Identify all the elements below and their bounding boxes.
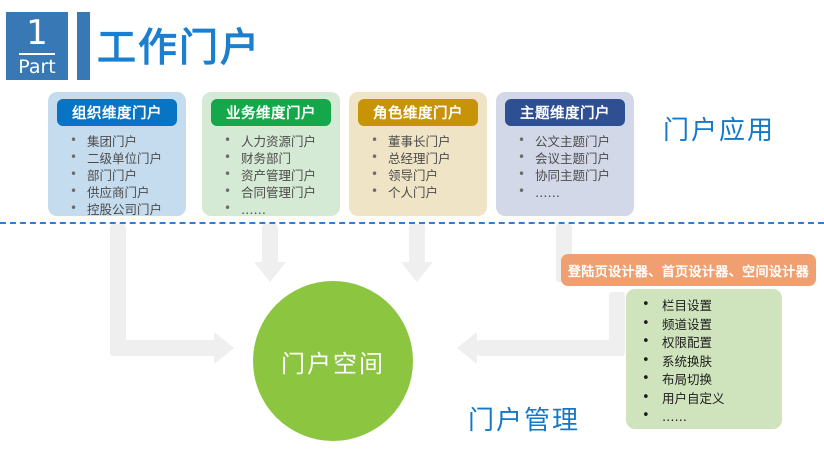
list-item: 用户自定义 [642,390,782,409]
title-accent-bar [77,12,90,80]
annotation-portal-application: 门户应用 [663,110,775,147]
management-options-list: 栏目设置 频道设置 权限配置 系统换肤 布局切换 用户自定义 …… [626,297,782,427]
card-title-organization: 组织维度门户 [57,99,177,126]
arrow-management-horizontal [477,340,625,356]
list-item: 二级单位门户 [70,150,186,167]
arrow-role-vertical [409,224,425,266]
list-item: 频道设置 [642,316,782,335]
management-options-panel[interactable]: 栏目设置 频道设置 权限配置 系统换肤 布局切换 用户自定义 …… [626,289,782,429]
part-divider-rule [19,53,55,55]
list-item: …… [224,201,340,218]
card-list-organization: 集团门户 二级单位门户 部门门户 供应商门户 控股公司门户 [48,133,186,218]
list-item: 系统换肤 [642,353,782,372]
card-topic-portal[interactable]: 主题维度门户 公文主题门户 会议主题门户 协同主题门户 …… [496,92,634,216]
arrow-head-down-icon [254,262,286,282]
card-organization-portal[interactable]: 组织维度门户 集团门户 二级单位门户 部门门户 供应商门户 控股公司门户 [48,92,186,216]
list-item: 供应商门户 [70,184,186,201]
list-item: 栏目设置 [642,297,782,316]
slide-canvas: 1 Part 工作门户 组织维度门户 集团门户 二级单位门户 部门门户 供应商门… [0,0,824,464]
list-item: 资产管理门户 [224,167,340,184]
list-item: 集团门户 [70,133,186,150]
list-item: 布局切换 [642,371,782,390]
card-title-role: 角色维度门户 [358,99,478,126]
part-word: Part [18,58,56,77]
arrow-business-vertical [262,224,278,266]
arrow-organization-vertical [110,224,126,354]
card-list-topic: 公文主题门户 会议主题门户 协同主题门户 …… [496,133,634,201]
arrow-head-left-icon [457,332,477,364]
list-item: 总经理门户 [371,150,487,167]
designer-banner[interactable]: 登陆页设计器、首页设计器、空间设计器 [561,254,816,286]
list-item: 权限配置 [642,334,782,353]
card-list-business: 人力资源门户 财务部门 资产管理门户 合同管理门户 …… [202,133,340,218]
list-item: …… [518,184,634,201]
list-item: 公文主题门户 [518,133,634,150]
part-number: 1 [26,16,48,51]
list-item: 控股公司门户 [70,201,186,218]
card-role-portal[interactable]: 角色维度门户 董事长门户 总经理门户 领导门户 个人门户 [349,92,487,216]
list-item: 部门门户 [70,167,186,184]
page-title: 工作门户 [97,17,261,73]
annotation-portal-management: 门户管理 [468,400,580,437]
part-badge: 1 Part [6,12,68,80]
arrow-head-down-icon [401,262,433,282]
card-title-business: 业务维度门户 [211,99,331,126]
card-title-topic: 主题维度门户 [505,99,625,126]
list-item: 董事长门户 [371,133,487,150]
card-business-portal[interactable]: 业务维度门户 人力资源门户 财务部门 资产管理门户 合同管理门户 …… [202,92,340,216]
list-item: 个人门户 [371,184,487,201]
portal-space-label: 门户空间 [281,344,385,379]
list-item: 合同管理门户 [224,184,340,201]
list-item: …… [642,408,782,427]
card-list-role: 董事长门户 总经理门户 领导门户 个人门户 [349,133,487,201]
list-item: 人力资源门户 [224,133,340,150]
list-item: 协同主题门户 [518,167,634,184]
list-item: 会议主题门户 [518,150,634,167]
arrow-head-right-icon [214,332,234,364]
list-item: 领导门户 [371,167,487,184]
arrow-organization-horizontal [110,340,218,356]
list-item: 财务部门 [224,150,340,167]
portal-space-circle[interactable]: 门户空间 [253,281,413,441]
